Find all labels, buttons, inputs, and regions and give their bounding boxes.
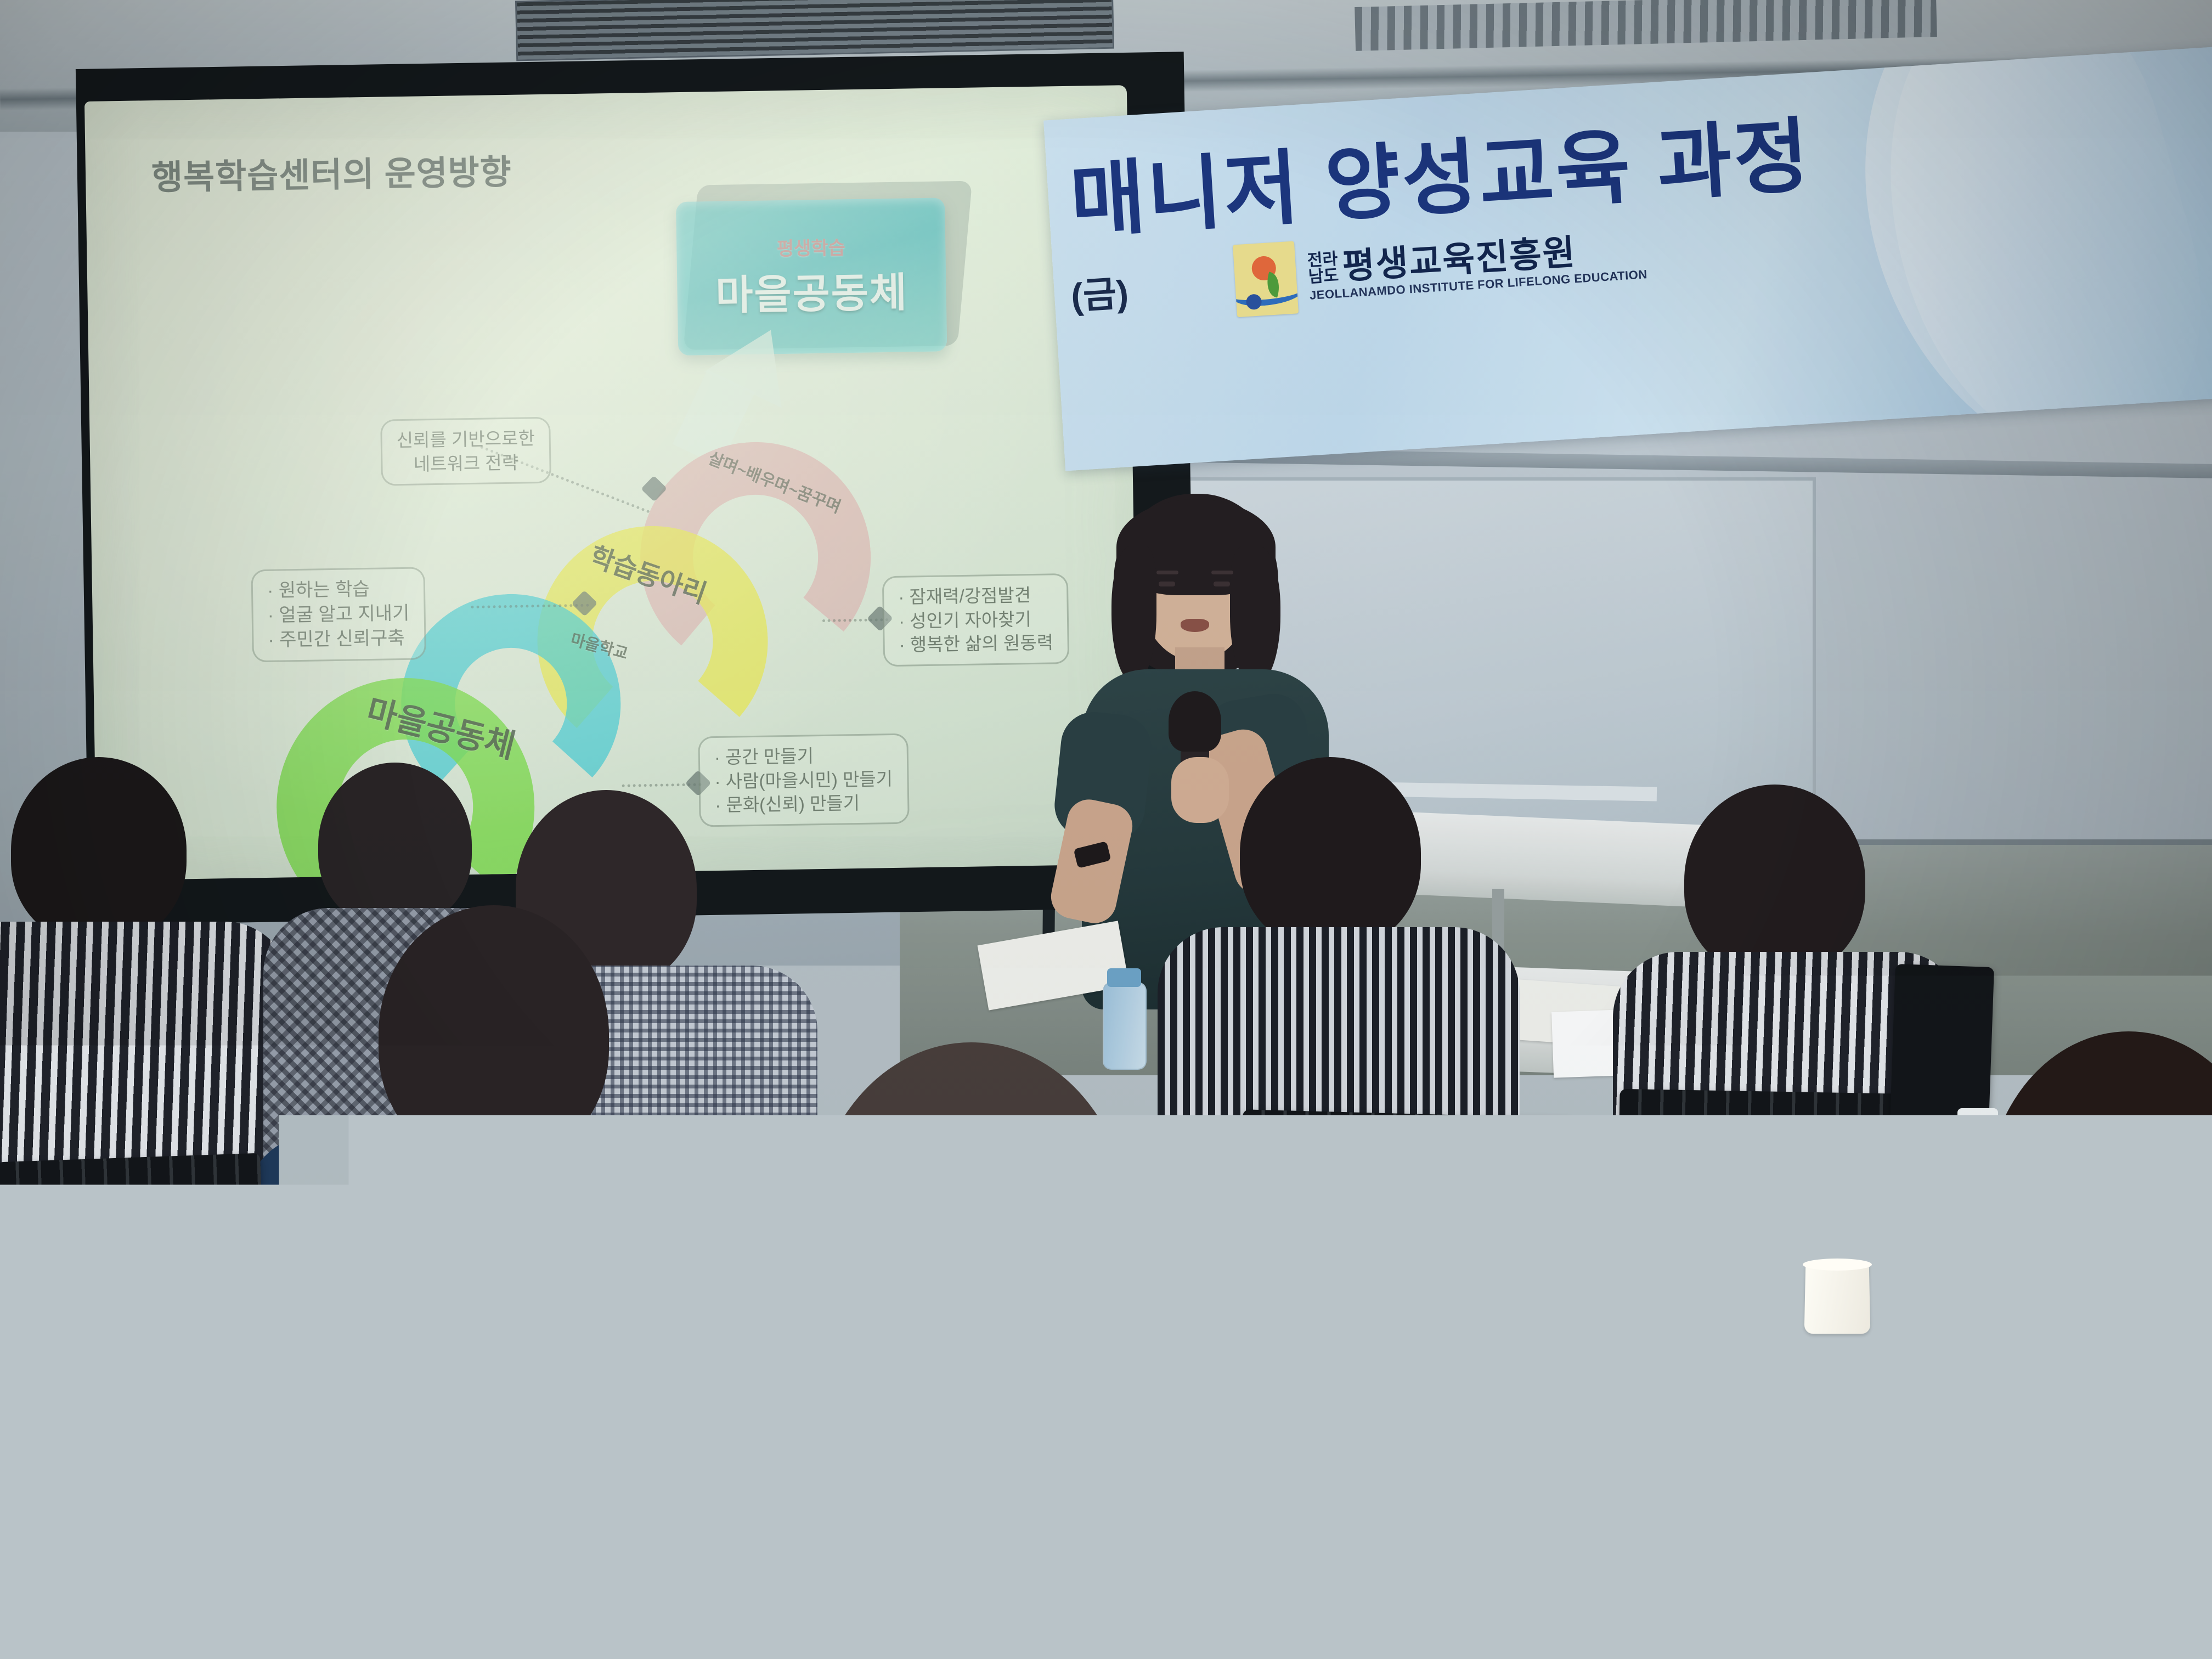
photo-scene: 행복학습센터의 운영방향 평생학습 마을공동체 살며~배우며~꿈꾸며 학습동아리… [0, 0, 2212, 1659]
callout-left-list: · 원하는 학습 · 얼굴 알고 지내기 · 주민간 신뢰구축 [251, 567, 426, 662]
audience-head [812, 1042, 1130, 1415]
jeollanamdo-logo-icon [1233, 241, 1299, 317]
water-bottle-cap [1957, 1108, 1998, 1135]
chair-slots [1237, 1109, 1572, 1348]
logo-dot-icon [1246, 294, 1262, 310]
slide-title: 행복학습센터의 운영방향 [151, 144, 512, 199]
presenter-eye-left [1159, 582, 1175, 586]
callout-right-item-2: · 성인기 자아찾기 [899, 607, 1053, 633]
paper-cup-rim [1803, 1259, 1872, 1271]
paper-cup [1804, 1263, 1871, 1334]
slide-top-box: 평생학습 마을공동체 [676, 198, 947, 356]
audience-head [379, 905, 609, 1163]
top-box-main-label: 마을공동체 [715, 259, 909, 321]
top-box-sub-label: 평생학습 [776, 233, 845, 261]
audience-head [318, 763, 472, 927]
audience-head [1684, 785, 1865, 977]
presenter-mouth [1181, 619, 1209, 632]
floral-pattern-blob [988, 1520, 1064, 1585]
organization-name-block: 전라 남도 평생교육진흥원 JEOLLANAMDO INSTITUTE FOR … [1307, 230, 1647, 302]
presenter-eyebrow-left [1156, 571, 1178, 574]
callout-right-item-3: · 행복한 삶의 원동력 [899, 630, 1053, 657]
microphone-icon [1169, 691, 1221, 752]
stacking-chair [0, 1153, 267, 1349]
chair-seat-blue [1233, 1356, 1499, 1459]
water-bottle-label [1954, 1201, 2001, 1233]
organization-prefix: 전라 남도 [1307, 251, 1339, 286]
audience-head [11, 757, 187, 944]
organization-prefix-line2: 남도 [1308, 268, 1339, 286]
callout-left-item-3: · 주민간 신뢰구축 [268, 626, 410, 653]
presenter-eyebrow-right [1211, 571, 1233, 574]
eyeglasses-right-lens [75, 1419, 137, 1464]
callout-right-item-1: · 잠재력/강점발견 [898, 583, 1053, 609]
right-table [1616, 1267, 2212, 1454]
banner-date-fragment: (금) [1069, 264, 1130, 320]
callout-left-item-1: · 원하는 학습 [267, 577, 409, 603]
floral-pattern-leaf [1031, 1465, 1081, 1503]
presenter-hair-right [1230, 546, 1280, 686]
floral-pattern-blob [905, 1448, 998, 1531]
callout-bottom-item-1: · 공간 만들기 [714, 743, 893, 770]
banner-title: 매니저 양성교육 과정 [1066, 89, 1814, 253]
presenter-hair-left [1111, 546, 1156, 683]
water-bottle [1953, 1130, 2002, 1267]
chair-slots [0, 1153, 267, 1349]
eyeglasses-left-lens [15, 1418, 76, 1463]
presenter-eye-right [1214, 582, 1230, 586]
pen-cap [222, 1371, 250, 1383]
water-bottle-cap [1107, 968, 1141, 987]
stacking-chair [1890, 964, 1994, 1126]
notebook [119, 1503, 265, 1618]
callout-left-item-2: · 얼굴 알고 지내기 [267, 601, 409, 628]
stacking-chair [1237, 1109, 1572, 1348]
logo-wave-icon [1233, 278, 1299, 308]
callout-network-line2: 네트워크 전략 [397, 450, 535, 477]
audience-head [1240, 757, 1421, 949]
callout-bottom-item-2: · 사람(마을시민) 만들기 [714, 767, 893, 794]
callout-network-line1: 신뢰를 기반으로한 [396, 426, 535, 453]
callout-network-strategy: 신뢰를 기반으로한 네트워크 전략 [380, 417, 551, 486]
